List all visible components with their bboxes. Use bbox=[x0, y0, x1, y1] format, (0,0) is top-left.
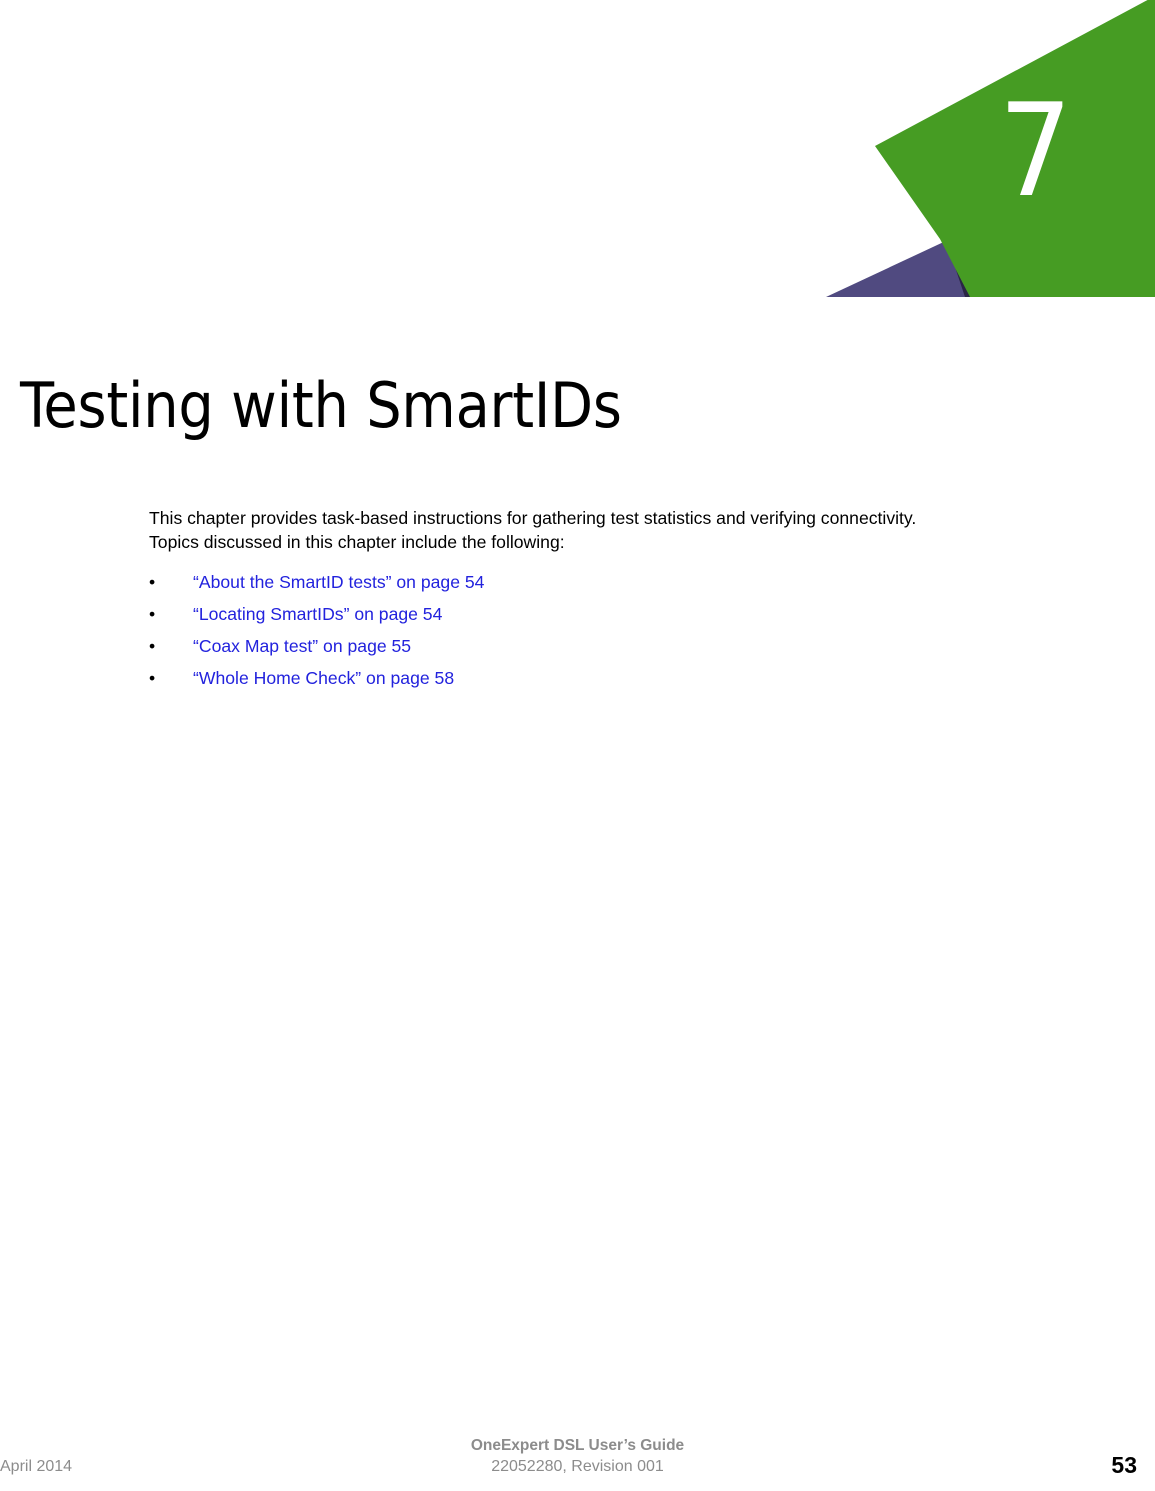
list-item: • “About the SmartID tests” on page 54 bbox=[149, 570, 949, 602]
footer-revision: 22052280, Revision 001 bbox=[0, 1457, 1155, 1477]
list-item: • “Whole Home Check” on page 58 bbox=[149, 666, 949, 698]
chapter-topic-list: • “About the SmartID tests” on page 54 •… bbox=[149, 570, 949, 698]
bullet-icon: • bbox=[149, 634, 193, 658]
bullet-icon: • bbox=[149, 666, 193, 690]
list-item: • “Locating SmartIDs” on page 54 bbox=[149, 602, 949, 634]
bullet-icon: • bbox=[149, 570, 193, 594]
intro-line-1: This chapter provides task-based instruc… bbox=[149, 506, 1069, 530]
page-title: Testing with SmartIDs bbox=[20, 373, 622, 440]
toc-link-whole-home-check[interactable]: “Whole Home Check” on page 58 bbox=[193, 666, 454, 690]
footer-guide-title: OneExpert DSL User’s Guide bbox=[0, 1435, 1155, 1457]
toc-link-locating-smartids[interactable]: “Locating SmartIDs” on page 54 bbox=[193, 602, 442, 626]
accent-triangle-dark-shape bbox=[945, 230, 1000, 297]
chapter-number: 7 bbox=[995, 88, 1075, 216]
list-item: • “Coax Map test” on page 55 bbox=[149, 634, 949, 666]
footer-center-block: OneExpert DSL User’s Guide 22052280, Rev… bbox=[0, 1435, 1155, 1477]
bullet-icon: • bbox=[149, 602, 193, 626]
document-page: 7 Testing with SmartIDs This chapter pro… bbox=[0, 0, 1155, 1491]
intro-paragraph: This chapter provides task-based instruc… bbox=[149, 506, 1069, 554]
toc-link-coax-map-test[interactable]: “Coax Map test” on page 55 bbox=[193, 634, 411, 658]
footer-page-number: 53 bbox=[1111, 1452, 1137, 1478]
intro-line-2: Topics discussed in this chapter include… bbox=[149, 530, 1069, 554]
page-footer: April 2014 OneExpert DSL User’s Guide 22… bbox=[0, 1431, 1155, 1491]
accent-triangle-light-shape bbox=[826, 232, 1000, 297]
toc-link-about-smartid-tests[interactable]: “About the SmartID tests” on page 54 bbox=[193, 570, 484, 594]
chapter-marker-graphic bbox=[815, 0, 1155, 310]
